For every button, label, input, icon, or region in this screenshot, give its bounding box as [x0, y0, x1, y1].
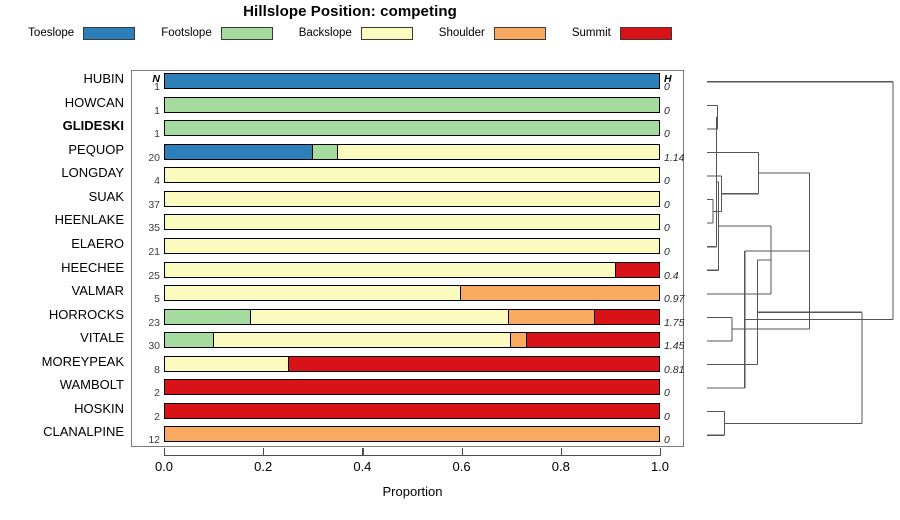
legend-swatch-summit — [620, 27, 672, 40]
row-label-elaero: ELAERO — [0, 237, 124, 250]
bar-segment-shoulder[interactable] — [165, 427, 659, 441]
bar-segment-summit[interactable] — [165, 380, 659, 394]
legend-item-shoulder[interactable]: Shoulder — [439, 27, 546, 40]
row-h-value: 0 — [664, 129, 698, 140]
bar-segment-summit[interactable] — [616, 263, 659, 277]
stacked-bar[interactable] — [164, 167, 660, 183]
row-label-clanalpine: CLANALPINE — [0, 425, 124, 438]
x-tick-label: 0.6 — [442, 459, 482, 474]
row-label-valmar: VALMAR — [0, 284, 124, 297]
row-h-value: 1.75 — [664, 318, 698, 329]
row-n-value: 30 — [134, 341, 160, 352]
row-label-wambolt: WAMBOLT — [0, 378, 124, 391]
stacked-bar[interactable] — [164, 285, 660, 301]
bar-segment-toeslope[interactable] — [165, 74, 659, 88]
stacked-bar[interactable] — [164, 238, 660, 254]
x-tick — [462, 448, 463, 456]
bar-segment-backslope[interactable] — [165, 192, 659, 206]
row-h-value: 0.81 — [664, 365, 698, 376]
bar-segment-shoulder[interactable] — [509, 310, 595, 324]
bar-segment-footslope[interactable] — [165, 333, 214, 347]
row-label-pequop: PEQUOP — [0, 143, 124, 156]
x-tick-label: 0.4 — [342, 459, 382, 474]
bar-segment-backslope[interactable] — [165, 168, 659, 182]
bar-segment-toeslope[interactable] — [165, 145, 313, 159]
row-n-value: 25 — [134, 271, 160, 282]
stacked-bar[interactable] — [164, 214, 660, 230]
row-n-value: 1 — [134, 129, 160, 140]
row-label-horrocks: HORROCKS — [0, 308, 124, 321]
bar-segment-backslope[interactable] — [165, 357, 289, 371]
row-label-glideski: GLIDESKI — [0, 119, 124, 132]
legend-item-toeslope[interactable]: Toeslope — [28, 27, 135, 40]
legend-swatch-backslope — [361, 27, 413, 40]
stacked-bar[interactable] — [164, 403, 660, 419]
legend-label: Summit — [572, 27, 611, 39]
x-tick — [561, 448, 562, 456]
row-n-value: 2 — [134, 412, 160, 423]
bar-segment-footslope[interactable] — [165, 310, 251, 324]
legend-item-backslope[interactable]: Backslope — [299, 27, 413, 40]
bar-segment-backslope[interactable] — [165, 286, 461, 300]
row-h-value: 1.45 — [664, 341, 698, 352]
row-h-value: 0 — [664, 412, 698, 423]
bar-segment-summit[interactable] — [289, 357, 660, 371]
row-h-value: 0 — [664, 200, 698, 211]
row-h-value: 0 — [664, 435, 698, 446]
x-tick-label: 1.0 — [640, 459, 680, 474]
row-h-value: 0.97 — [664, 294, 698, 305]
stacked-bar[interactable] — [164, 97, 660, 113]
row-n-value: 35 — [134, 223, 160, 234]
stacked-bar[interactable] — [164, 73, 660, 89]
row-n-value: 8 — [134, 365, 160, 376]
row-h-value: 0 — [664, 223, 698, 234]
stacked-bar[interactable] — [164, 262, 660, 278]
row-n-value: 1 — [134, 106, 160, 117]
bar-segment-backslope[interactable] — [165, 239, 659, 253]
row-h-value: 0.4 — [664, 271, 698, 282]
bar-segment-backslope[interactable] — [251, 310, 509, 324]
row-n-value: 4 — [134, 176, 160, 187]
bar-segment-summit[interactable] — [527, 333, 659, 347]
x-tick — [660, 448, 661, 456]
page-title: Hillslope Position: competing — [0, 3, 700, 20]
row-label-vitale: VITALE — [0, 331, 124, 344]
legend-item-summit[interactable]: Summit — [572, 27, 672, 40]
row-h-value: 0 — [664, 388, 698, 399]
chart-root: Hillslope Position: competing ToeslopeFo… — [0, 0, 900, 520]
row-label-howcan: HOWCAN — [0, 96, 124, 109]
row-label-moreypeak: MOREYPEAK — [0, 355, 124, 368]
bar-segment-shoulder[interactable] — [511, 333, 527, 347]
stacked-bar[interactable] — [164, 120, 660, 136]
bar-segment-summit[interactable] — [595, 310, 659, 324]
bar-segment-backslope[interactable] — [165, 263, 616, 277]
bar-segment-shoulder[interactable] — [461, 286, 659, 300]
row-n-value: 2 — [134, 388, 160, 399]
row-n-value: 1 — [134, 82, 160, 93]
stacked-bar[interactable] — [164, 356, 660, 372]
legend-label: Footslope — [161, 27, 212, 39]
row-label-heechee: HEECHEE — [0, 261, 124, 274]
row-label-longday: LONGDAY — [0, 166, 124, 179]
bar-segment-backslope[interactable] — [338, 145, 659, 159]
x-axis-label: Proportion — [164, 484, 661, 499]
x-tick — [263, 448, 264, 456]
row-h-value: 0 — [664, 176, 698, 187]
stacked-bar[interactable] — [164, 191, 660, 207]
legend-label: Shoulder — [439, 27, 485, 39]
legend-swatch-toeslope — [83, 27, 135, 40]
row-h-value: 0 — [664, 247, 698, 258]
dendrogram — [697, 62, 900, 457]
stacked-bar[interactable] — [164, 309, 660, 325]
legend-label: Toeslope — [28, 27, 74, 39]
row-label-hubin: HUBIN — [0, 72, 124, 85]
bar-segment-backslope[interactable] — [214, 333, 510, 347]
stacked-bar[interactable] — [164, 426, 660, 442]
bar-segment-footslope[interactable] — [313, 145, 338, 159]
row-label-heenlake: HEENLAKE — [0, 213, 124, 226]
legend-swatch-footslope — [221, 27, 273, 40]
row-h-value: 0 — [664, 106, 698, 117]
x-tick — [362, 448, 363, 456]
row-h-value: 1.14 — [664, 153, 698, 164]
bar-segment-footslope[interactable] — [165, 98, 659, 112]
bar-segment-footslope[interactable] — [165, 121, 659, 135]
stacked-bar[interactable] — [164, 144, 660, 160]
dendrogram-svg — [697, 62, 900, 457]
x-axis-line — [164, 455, 661, 456]
legend: ToeslopeFootslopeBackslopeShoulderSummit — [0, 24, 700, 42]
bar-segment-backslope[interactable] — [165, 215, 659, 229]
x-tick-label: 0.2 — [243, 459, 283, 474]
row-n-value: 20 — [134, 153, 160, 164]
row-n-value: 21 — [134, 247, 160, 258]
row-n-value: 5 — [134, 294, 160, 305]
row-n-value: 23 — [134, 318, 160, 329]
stacked-bar[interactable] — [164, 332, 660, 348]
x-tick — [164, 448, 165, 456]
x-tick-label: 0.8 — [541, 459, 581, 474]
x-tick-label: 0.0 — [144, 459, 184, 474]
stacked-bar[interactable] — [164, 379, 660, 395]
row-label-hoskin: HOSKIN — [0, 402, 124, 415]
bar-segment-summit[interactable] — [165, 404, 659, 418]
row-label-suak: SUAK — [0, 190, 124, 203]
legend-label: Backslope — [299, 27, 352, 39]
row-n-value: 12 — [134, 435, 160, 446]
legend-swatch-shoulder — [494, 27, 546, 40]
row-h-value: 0 — [664, 82, 698, 93]
legend-item-footslope[interactable]: Footslope — [161, 27, 273, 40]
row-n-value: 37 — [134, 200, 160, 211]
